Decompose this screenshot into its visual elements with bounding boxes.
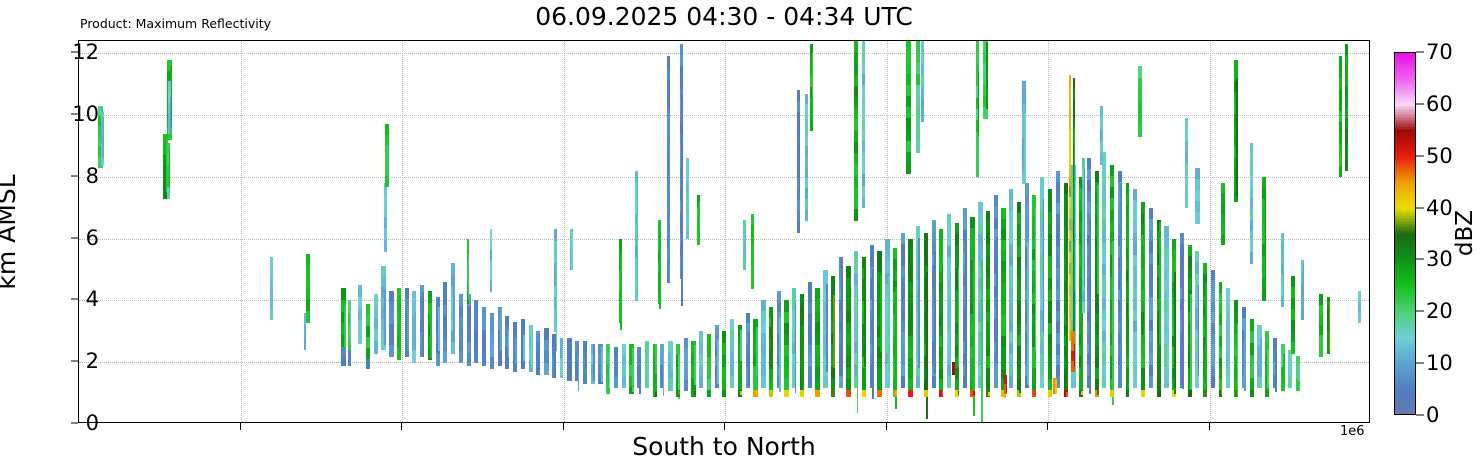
- chart-title: 06.09.2025 04:30 - 04:34 UTC: [78, 2, 1370, 31]
- x-axis-label: South to North: [78, 432, 1370, 461]
- y-tick-mark: [71, 52, 78, 53]
- x-axis-exponent: 1e6: [1340, 424, 1365, 439]
- radar-cross-section-figure: Product: Maximum Reflectivity 06.09.2025…: [0, 0, 1482, 470]
- y-tick-mark: [71, 114, 78, 115]
- y-tick-label: 0: [86, 411, 99, 435]
- x-tick-mark: [724, 423, 725, 430]
- x-tick-mark: [886, 423, 887, 430]
- colorbar-tick-label: 40: [1426, 196, 1453, 220]
- y-tick-mark: [71, 299, 78, 300]
- colorbar-tick-mark: [1416, 311, 1424, 312]
- x-tick-mark: [563, 423, 564, 430]
- colorbar-tick-label: 10: [1426, 351, 1453, 375]
- colorbar-tick-mark: [1416, 363, 1424, 364]
- y-tick-label: 4: [86, 287, 99, 311]
- x-tick-mark: [1209, 423, 1210, 430]
- colorbar-tick-label: 20: [1426, 299, 1453, 323]
- plot-area: [78, 40, 1370, 423]
- y-tick-label: 2: [86, 349, 99, 373]
- y-tick-label: 8: [86, 164, 99, 188]
- colorbar-tick-mark: [1416, 415, 1424, 416]
- colorbar-tick-label: 60: [1426, 92, 1453, 116]
- y-tick-mark: [71, 423, 78, 424]
- y-tick-mark: [71, 175, 78, 176]
- y-tick-label: 6: [86, 226, 99, 250]
- colorbar-tick-mark: [1416, 207, 1424, 208]
- y-tick-mark: [71, 361, 78, 362]
- colorbar-tick-mark: [1416, 259, 1424, 260]
- colorbar-tick-label: 50: [1426, 144, 1453, 168]
- x-tick-mark: [240, 423, 241, 430]
- colorbar-tick-mark: [1416, 155, 1424, 156]
- colorbar-tick-label: 30: [1426, 247, 1453, 271]
- y-axis-label: km AMSL: [0, 174, 21, 289]
- colorbar-tick-mark: [1416, 52, 1424, 53]
- colorbar: [1394, 52, 1416, 415]
- x-tick-mark: [1047, 423, 1048, 430]
- colorbar-label: dBZ: [1452, 210, 1478, 256]
- colorbar-tick-mark: [1416, 103, 1424, 104]
- x-tick-mark: [401, 423, 402, 430]
- colorbar-tick-label: 70: [1426, 40, 1453, 64]
- y-tick-mark: [71, 237, 78, 238]
- colorbar-tick-label: 0: [1426, 403, 1439, 427]
- reflectivity-cells: [79, 41, 1369, 422]
